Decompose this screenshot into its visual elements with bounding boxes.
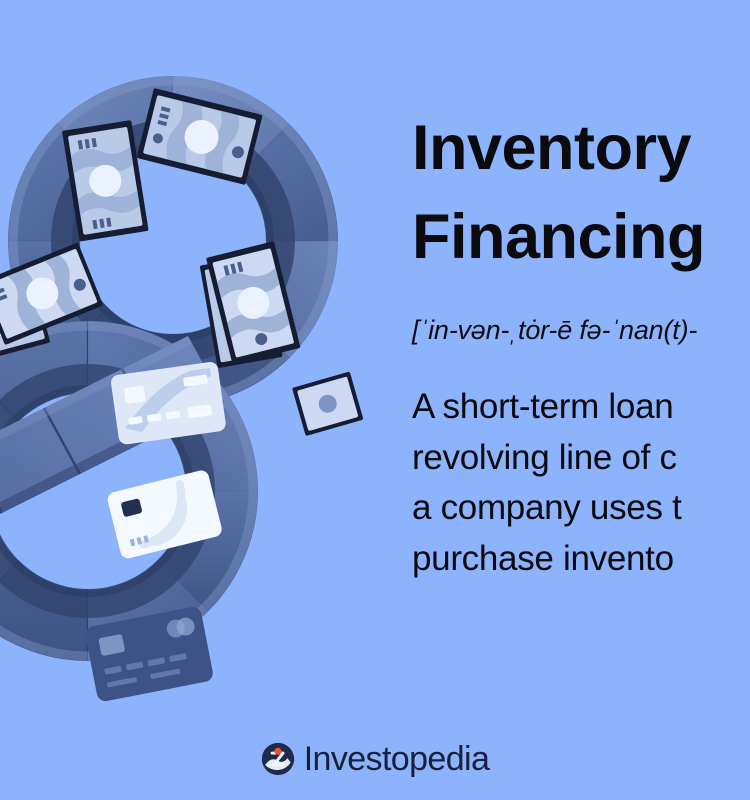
title-line-2: Financing	[412, 193, 750, 282]
pronunciation: [ˈin-vən-ˌtȯr-ē fə-ˈnan(t)-	[412, 315, 750, 346]
investopedia-wordmark: Investopedia	[304, 742, 490, 776]
definition-line-1: A short-term loan	[412, 382, 750, 433]
text-column: Inventory Financing [ˈin-vən-ˌtȯr-ē fə-ˈ…	[412, 104, 750, 585]
investopedia-logo-icon	[261, 742, 295, 776]
definition-line-3: a company uses t	[412, 483, 750, 534]
illustration-figure-eight-conveyor	[0, 36, 408, 716]
definition-line-4: purchase invento	[412, 534, 750, 585]
footer-brand: Investopedia	[0, 742, 750, 776]
title-line-1: Inventory	[412, 104, 750, 193]
definition-line-2: revolving line of c	[412, 433, 750, 484]
page-title: Inventory Financing	[412, 104, 750, 283]
definition-text: A short-term loan revolving line of c a …	[412, 382, 750, 585]
credit-card-light-contactless	[110, 361, 227, 445]
infographic-card: Inventory Financing [ˈin-vən-ˌtȯr-ē fə-ˈ…	[0, 0, 750, 800]
